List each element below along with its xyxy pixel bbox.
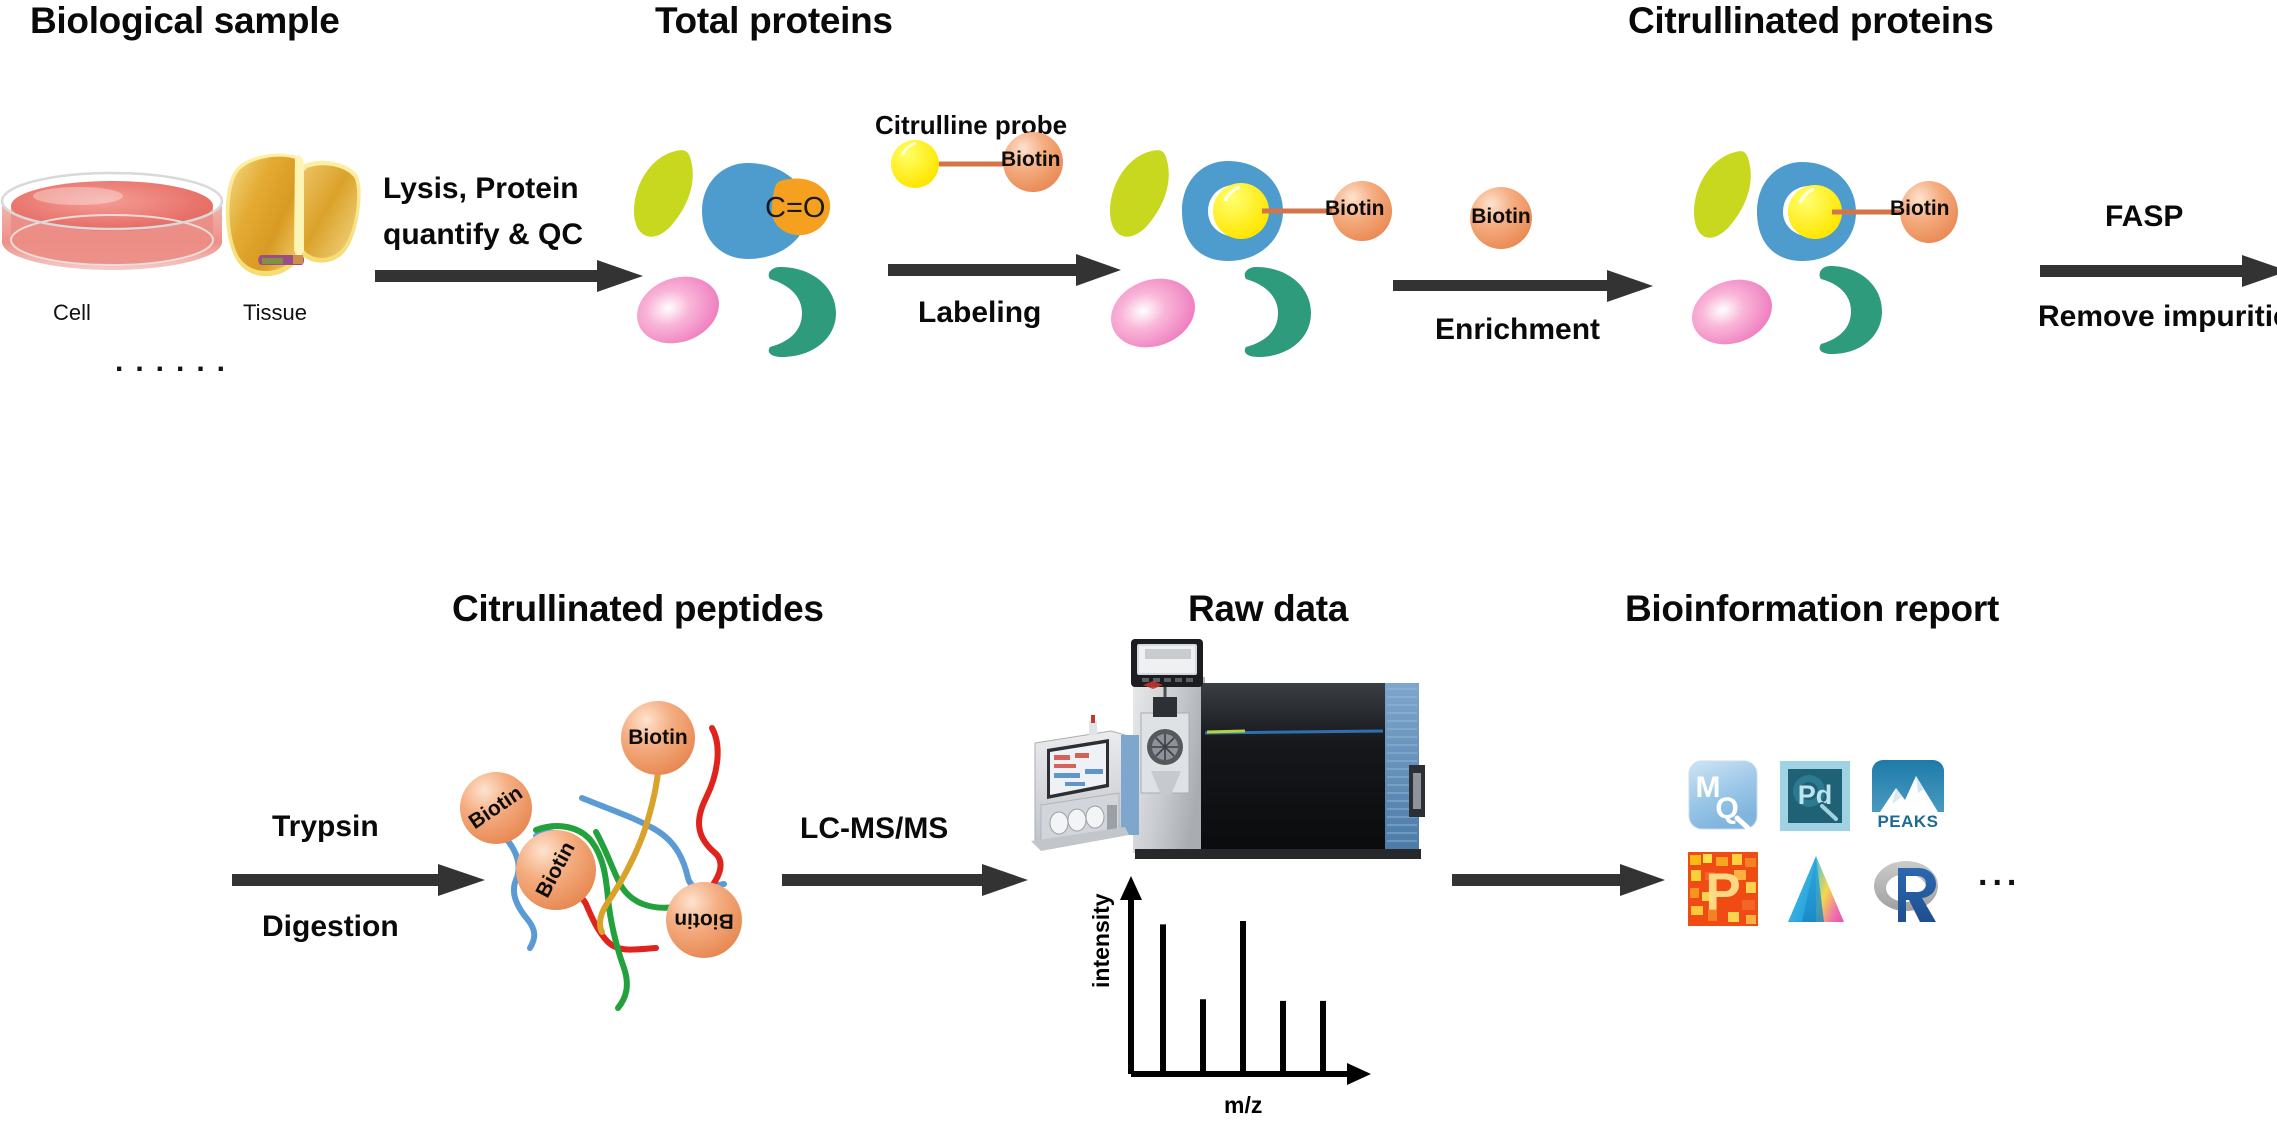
- heading-biological-sample: Biological sample: [30, 0, 340, 42]
- liver-tissue-image: [205, 112, 380, 297]
- heading-bioinformation-report: Bioinformation report: [1625, 588, 1999, 630]
- arrow-to-report: [1452, 862, 1667, 898]
- arrow-fasp: [2040, 253, 2277, 289]
- software-ellipsis: ...: [1978, 855, 2021, 894]
- arrow-trypsin-label-below: Digestion: [262, 910, 399, 944]
- peptide-biotin-label-3: Biotin: [628, 726, 687, 750]
- sample-ellipsis: ......: [115, 345, 237, 379]
- arrow-enrichment-label: Enrichment: [1435, 313, 1600, 347]
- maxquant-icon[interactable]: M Q: [1688, 760, 1758, 830]
- arrow-lysis-label-line2: quantify & QC: [383, 218, 583, 252]
- arrow-enrichment: [1393, 268, 1655, 304]
- protein-cluster-labeled: [1108, 145, 1358, 360]
- heading-citrullinated-proteins: Citrullinated proteins: [1628, 0, 1993, 42]
- arrow-labeling: [888, 252, 1123, 288]
- mass-spectrum-ylabel: intensity: [1088, 893, 1115, 988]
- arrow-lcmsms-label: LC-MS/MS: [800, 812, 948, 846]
- arrow-labeling-label: Labeling: [918, 296, 1041, 330]
- mass-spectrometer-image: [1025, 635, 1435, 860]
- mass-spectrum-chart: [1105, 868, 1395, 1098]
- probe-biotin-label: Biotin: [1001, 148, 1060, 172]
- svg-text:P: P: [1705, 863, 1740, 922]
- label-tissue: Tissue: [243, 300, 307, 326]
- arrow-fasp-label-above: FASP: [2105, 200, 2183, 234]
- arrow-lcmsms: [782, 862, 1030, 898]
- peptide-biotin-label-4: Biotin: [674, 907, 734, 932]
- enrichment-biotin-label: Biotin: [1470, 205, 1532, 229]
- proteome-discoverer-icon[interactable]: Pd: [1780, 761, 1850, 831]
- arrow-lysis-label-line1: Lysis, Protein: [383, 172, 579, 206]
- labeled-biotin-label: Biotin: [1325, 197, 1384, 221]
- peaks-icon[interactable]: PEAKS: [1872, 760, 1944, 832]
- svg-text:Q: Q: [1715, 792, 1738, 825]
- skyline-icon[interactable]: [1780, 852, 1852, 926]
- citrullinated-peptide-tangle: [440, 680, 760, 1010]
- arrow-lysis: [375, 258, 645, 294]
- perseus-icon[interactable]: P: [1688, 852, 1758, 926]
- heading-raw-data: Raw data: [1188, 588, 1348, 630]
- heading-citrullinated-peptides: Citrullinated peptides: [452, 588, 824, 630]
- protein-cluster-total: [630, 145, 890, 360]
- arrow-fasp-label-below: Remove impurities: [2038, 300, 2277, 334]
- cell-culture-dish-image: [0, 168, 225, 283]
- citrullinated-biotin-label: Biotin: [1890, 197, 1949, 221]
- svg-text:PEAKS: PEAKS: [1877, 812, 1938, 831]
- heading-total-proteins: Total proteins: [655, 0, 893, 42]
- label-cell: Cell: [53, 300, 91, 326]
- arrow-trypsin-label-above: Trypsin: [272, 810, 379, 844]
- mass-spectrum-xlabel: m/z: [1224, 1092, 1262, 1119]
- label-carbonyl: C=O: [765, 192, 825, 225]
- r-project-icon[interactable]: [1872, 852, 1944, 926]
